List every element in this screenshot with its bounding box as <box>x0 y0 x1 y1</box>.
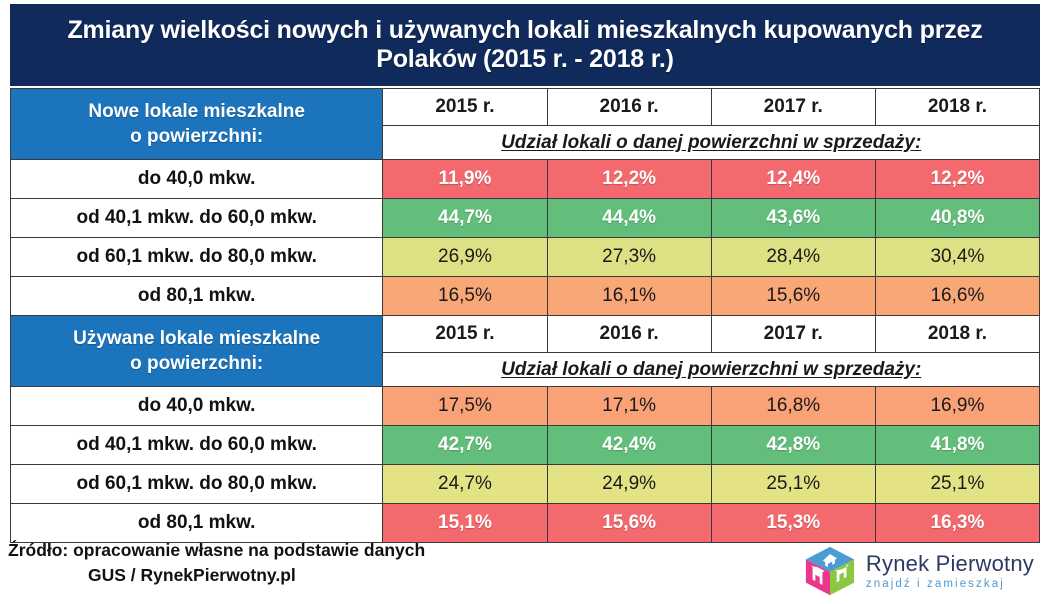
data-cell: 16,1% <box>547 277 711 316</box>
source-note: Źródło: opracowanie własne na podstawie … <box>8 538 648 589</box>
data-cell: 27,3% <box>547 238 711 277</box>
section-header-row: Nowe lokale mieszkalne o powierzchni: 20… <box>11 89 1040 126</box>
column-header-2018: 2018 r. <box>875 316 1039 353</box>
section-subtitle-text: Udział lokali o danej powierzchni w sprz… <box>501 359 921 380</box>
data-cell: 42,7% <box>383 426 547 465</box>
table-row: od 80,1 mkw. 15,1% 15,6% 15,3% 16,3% <box>11 504 1040 543</box>
data-cell: 12,2% <box>547 160 711 199</box>
column-header-2018: 2018 r. <box>875 89 1039 126</box>
source-line-2: GUS / RynekPierwotny.pl <box>8 563 648 588</box>
section-subtitle-text: Udział lokali o danej powierzchni w sprz… <box>501 132 921 153</box>
section-heading-line1: Nowe lokale mieszkalne <box>11 99 382 124</box>
data-cell: 17,1% <box>547 387 711 426</box>
section-heading-line2: o powierzchni: <box>11 124 382 149</box>
table-row: do 40,0 mkw. 11,9% 12,2% 12,4% 12,2% <box>11 160 1040 199</box>
data-cell: 15,1% <box>383 504 547 543</box>
cube-house-icon <box>803 546 857 596</box>
column-header-2015: 2015 r. <box>383 89 547 126</box>
data-cell: 41,8% <box>875 426 1039 465</box>
data-cell: 24,9% <box>547 465 711 504</box>
data-cell: 44,4% <box>547 199 711 238</box>
source-line-1: Źródło: opracowanie własne na podstawie … <box>8 540 425 560</box>
data-cell: 15,3% <box>711 504 875 543</box>
row-label: od 40,1 mkw. do 60,0 mkw. <box>11 199 383 238</box>
data-cell: 30,4% <box>875 238 1039 277</box>
data-cell: 16,6% <box>875 277 1039 316</box>
table-row: do 40,0 mkw. 17,5% 17,1% 16,8% 16,9% <box>11 387 1040 426</box>
row-label: do 40,0 mkw. <box>11 387 383 426</box>
infographic-table: Zmiany wielkości nowych i używanych loka… <box>0 0 1050 604</box>
logo-tagline: znajdź i zamieszkaj <box>866 579 1034 591</box>
section-heading-line1: Używane lokale mieszkalne <box>11 326 382 351</box>
table-row: od 80,1 mkw. 16,5% 16,1% 15,6% 16,6% <box>11 277 1040 316</box>
row-label: od 60,1 mkw. do 80,0 mkw. <box>11 465 383 504</box>
data-cell: 16,3% <box>875 504 1039 543</box>
brand-logo: Rynek Pierwotny znajdź i zamieszkaj <box>803 546 1034 596</box>
table-row: od 40,1 mkw. do 60,0 mkw. 42,7% 42,4% 42… <box>11 426 1040 465</box>
data-cell: 12,2% <box>875 160 1039 199</box>
data-cell: 43,6% <box>711 199 875 238</box>
column-header-2016: 2016 r. <box>547 89 711 126</box>
data-cell: 12,4% <box>711 160 875 199</box>
data-cell: 16,9% <box>875 387 1039 426</box>
data-cell: 17,5% <box>383 387 547 426</box>
section-subtitle: Udział lokali o danej powierzchni w sprz… <box>383 353 1040 387</box>
data-cell: 15,6% <box>547 504 711 543</box>
data-cell: 42,8% <box>711 426 875 465</box>
data-cell: 24,7% <box>383 465 547 504</box>
section-heading-used: Używane lokale mieszkalne o powierzchni: <box>11 316 383 387</box>
row-label: od 80,1 mkw. <box>11 504 383 543</box>
data-cell: 16,8% <box>711 387 875 426</box>
page-title: Zmiany wielkości nowych i używanych loka… <box>10 16 1040 75</box>
table-row: od 60,1 mkw. do 80,0 mkw. 26,9% 27,3% 28… <box>11 238 1040 277</box>
title-banner: Zmiany wielkości nowych i używanych loka… <box>10 4 1040 86</box>
data-cell: 25,1% <box>875 465 1039 504</box>
column-header-2015: 2015 r. <box>383 316 547 353</box>
section-heading-new: Nowe lokale mieszkalne o powierzchni: <box>11 89 383 160</box>
logo-name: Rynek Pierwotny <box>866 553 1034 575</box>
row-label: do 40,0 mkw. <box>11 160 383 199</box>
data-cell: 11,9% <box>383 160 547 199</box>
table-row: od 60,1 mkw. do 80,0 mkw. 24,7% 24,9% 25… <box>11 465 1040 504</box>
data-cell: 26,9% <box>383 238 547 277</box>
data-cell: 40,8% <box>875 199 1039 238</box>
column-header-2016: 2016 r. <box>547 316 711 353</box>
table-row: od 40,1 mkw. do 60,0 mkw. 44,7% 44,4% 43… <box>11 199 1040 238</box>
data-cell: 44,7% <box>383 199 547 238</box>
section-header-row: Używane lokale mieszkalne o powierzchni:… <box>11 316 1040 353</box>
table-body: Nowe lokale mieszkalne o powierzchni: 20… <box>11 89 1040 543</box>
data-table: Nowe lokale mieszkalne o powierzchni: 20… <box>10 88 1040 543</box>
column-header-2017: 2017 r. <box>711 89 875 126</box>
section-subtitle: Udział lokali o danej powierzchni w sprz… <box>383 126 1040 160</box>
row-label: od 60,1 mkw. do 80,0 mkw. <box>11 238 383 277</box>
logo-wordmark: Rynek Pierwotny znajdź i zamieszkaj <box>866 551 1034 591</box>
data-cell: 25,1% <box>711 465 875 504</box>
data-cell: 28,4% <box>711 238 875 277</box>
data-cell: 16,5% <box>383 277 547 316</box>
column-header-2017: 2017 r. <box>711 316 875 353</box>
data-cell: 15,6% <box>711 277 875 316</box>
data-cell: 42,4% <box>547 426 711 465</box>
row-label: od 40,1 mkw. do 60,0 mkw. <box>11 426 383 465</box>
section-heading-line2: o powierzchni: <box>11 351 382 376</box>
row-label: od 80,1 mkw. <box>11 277 383 316</box>
